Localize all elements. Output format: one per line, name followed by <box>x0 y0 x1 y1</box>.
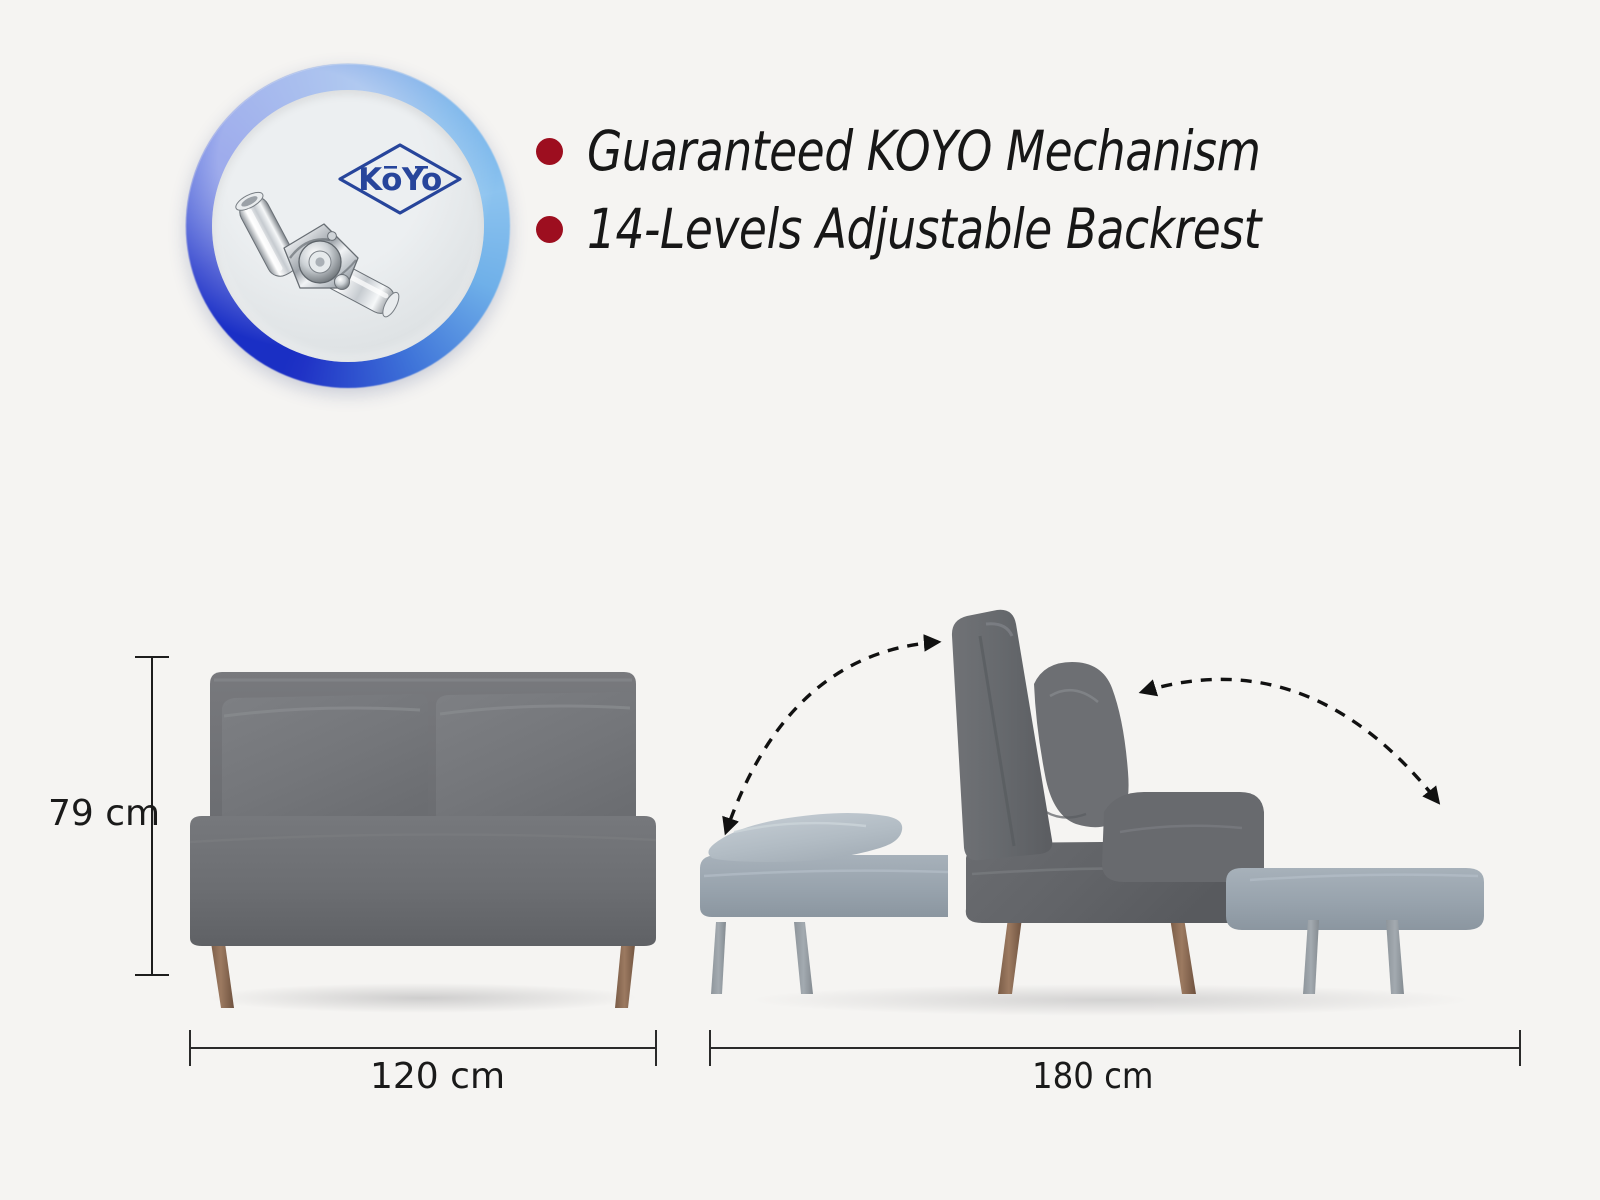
right-platform <box>1226 868 1484 930</box>
dim-cap-right <box>1519 1030 1521 1066</box>
bullet-dot-icon <box>536 138 563 165</box>
koyo-hinge-mechanism-icon <box>228 162 418 322</box>
dim-line-horizontal <box>709 1047 1521 1049</box>
seat-extension-arrow <box>1142 679 1438 802</box>
bed-floor-shadow <box>750 984 1470 1016</box>
bed-extension-right <box>1226 868 1484 994</box>
right-platform-leg-2 <box>1386 920 1404 994</box>
height-dimension-label: 79 cm <box>48 793 160 834</box>
dim-cap-bottom <box>135 974 169 976</box>
feature-item: Guaranteed KOYO Mechanism <box>536 112 1436 190</box>
bed-width-dimension-label: 180 cm <box>1032 1056 1153 1097</box>
left-platform-leg-2 <box>794 922 813 994</box>
left-platform <box>700 855 948 917</box>
sofa-width-dimension-label: 120 cm <box>370 1056 505 1097</box>
badge-face: KoYo <box>212 90 484 362</box>
backrest-fold-down-arrow <box>726 642 938 832</box>
feature-label: 14-Levels Adjustable Backrest <box>587 202 1261 257</box>
bed-center-unit <box>952 610 1264 994</box>
koyo-badge: KoYo <box>186 64 510 388</box>
center-leg-right <box>1170 918 1196 994</box>
hinge-body <box>284 224 358 290</box>
backrest-panel <box>952 610 1052 860</box>
pillow-body <box>708 813 902 862</box>
loose-pillow <box>708 813 902 862</box>
sofa-floor-shadow <box>208 983 638 1013</box>
bullet-dot-icon <box>536 216 563 243</box>
left-platform-leg-1 <box>711 922 726 994</box>
dim-cap-right <box>655 1030 657 1066</box>
center-leg-left <box>998 918 1022 994</box>
bed-extension-left <box>700 855 948 994</box>
feature-item: 14-Levels Adjustable Backrest <box>536 190 1436 268</box>
feature-list: Guaranteed KOYO Mechanism 14-Levels Adju… <box>536 112 1436 268</box>
dim-line-horizontal <box>189 1047 656 1049</box>
sofa-front-view <box>168 636 678 1026</box>
right-platform-leg-1 <box>1303 920 1319 994</box>
feature-label: Guaranteed KOYO Mechanism <box>587 124 1260 179</box>
infographic-canvas: KoYo <box>0 0 1600 1200</box>
sofa-bed-side-view <box>690 600 1520 1030</box>
